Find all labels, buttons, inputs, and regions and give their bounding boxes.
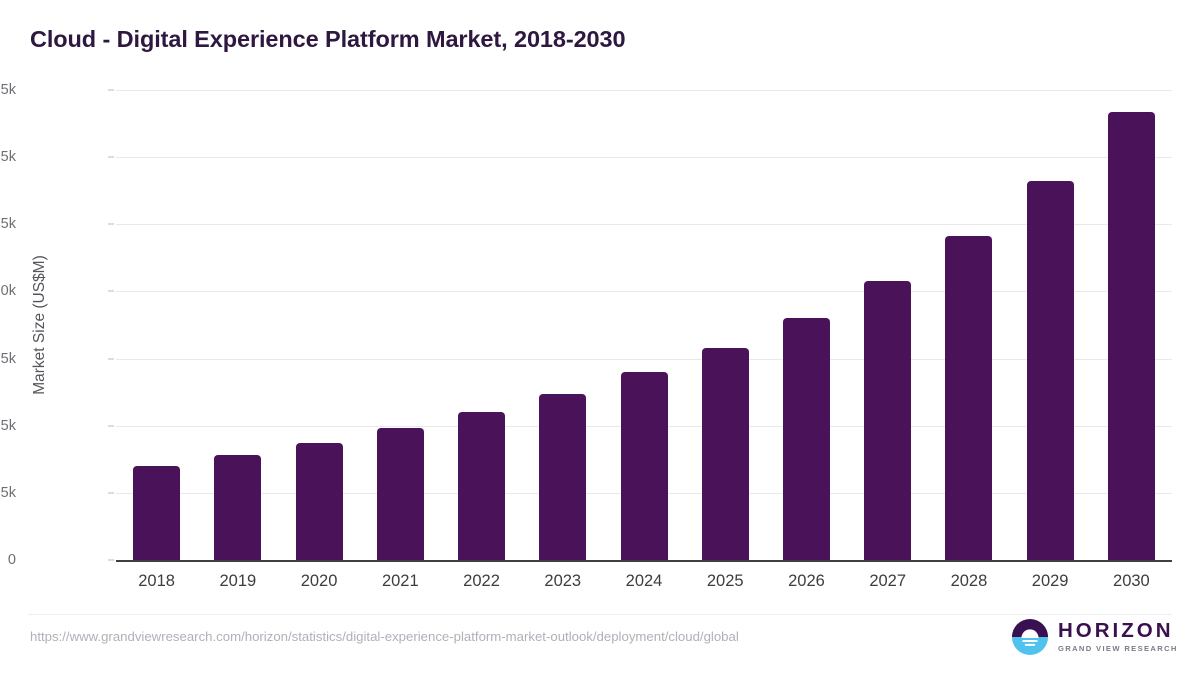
y-axis-tick-label: 15k xyxy=(0,149,16,165)
y-axis-tick-mark xyxy=(108,358,114,359)
bar-2022[interactable] xyxy=(458,412,505,560)
y-axis-tick-mark xyxy=(108,560,114,561)
bar-2026[interactable] xyxy=(783,318,830,560)
horizon-sun-icon xyxy=(1011,618,1049,656)
x-axis-line xyxy=(116,560,1172,562)
bar-2030[interactable] xyxy=(1108,112,1155,561)
y-axis-tick-label: 12.5k xyxy=(0,216,16,232)
chart-card: Cloud - Digital Experience Platform Mark… xyxy=(0,0,1200,675)
x-axis-tick-label: 2027 xyxy=(843,572,933,591)
y-axis-tick-mark xyxy=(108,90,114,91)
y-axis-tick-label: 10k xyxy=(0,283,16,299)
x-axis-tick-label: 2022 xyxy=(437,572,527,591)
source-url[interactable]: https://www.grandviewresearch.com/horizo… xyxy=(30,629,739,644)
x-axis-tick-label: 2025 xyxy=(680,572,770,591)
y-axis-title: Market Size (US$M) xyxy=(31,160,49,490)
bar-2018[interactable] xyxy=(133,466,180,560)
x-axis-tick-label: 2029 xyxy=(1005,572,1095,591)
x-axis-tick-label: 2018 xyxy=(112,572,202,591)
y-axis-tick-label: 2.5k xyxy=(0,485,16,501)
y-axis-tick-mark xyxy=(108,224,114,225)
bar-2024[interactable] xyxy=(621,372,668,560)
chart-title: Cloud - Digital Experience Platform Mark… xyxy=(30,26,625,53)
y-axis-tick-mark xyxy=(108,492,114,493)
logo-text-block: HORIZON GRAND VIEW RESEARCH xyxy=(1058,621,1178,653)
y-axis-tick-mark xyxy=(108,157,114,158)
bar-2028[interactable] xyxy=(945,236,992,560)
x-axis-tick-label: 2023 xyxy=(518,572,608,591)
y-axis-tick-mark xyxy=(108,291,114,292)
footer-divider xyxy=(28,614,1172,615)
x-axis-tick-label: 2020 xyxy=(274,572,364,591)
y-axis-tick-label: 7.5k xyxy=(0,351,16,367)
bar-2027[interactable] xyxy=(864,281,911,560)
logo-tagline: GRAND VIEW RESEARCH xyxy=(1058,645,1178,653)
horizon-logo[interactable]: HORIZON GRAND VIEW RESEARCH xyxy=(1011,618,1178,656)
bar-2021[interactable] xyxy=(377,428,424,560)
bar-2019[interactable] xyxy=(214,455,261,560)
x-axis-tick-label: 2021 xyxy=(355,572,445,591)
x-axis-tick-label: 2030 xyxy=(1086,572,1176,591)
y-axis-tick-mark xyxy=(108,425,114,426)
y-axis-tick-label: 0 xyxy=(0,552,16,568)
y-axis-tick-label: 5k xyxy=(0,418,16,434)
logo-wordmark: HORIZON xyxy=(1058,621,1178,642)
x-axis-tick-label: 2019 xyxy=(193,572,283,591)
x-axis-tick-label: 2024 xyxy=(599,572,689,591)
y-axis-tick-label: 17.5k xyxy=(0,82,16,98)
x-axis-tick-label: 2028 xyxy=(924,572,1014,591)
bar-2029[interactable] xyxy=(1027,181,1074,560)
bar-2023[interactable] xyxy=(539,394,586,561)
bar-2020[interactable] xyxy=(296,443,343,560)
bar-2025[interactable] xyxy=(702,348,749,560)
x-axis-tick-label: 2026 xyxy=(761,572,851,591)
bar-series xyxy=(116,90,1172,560)
